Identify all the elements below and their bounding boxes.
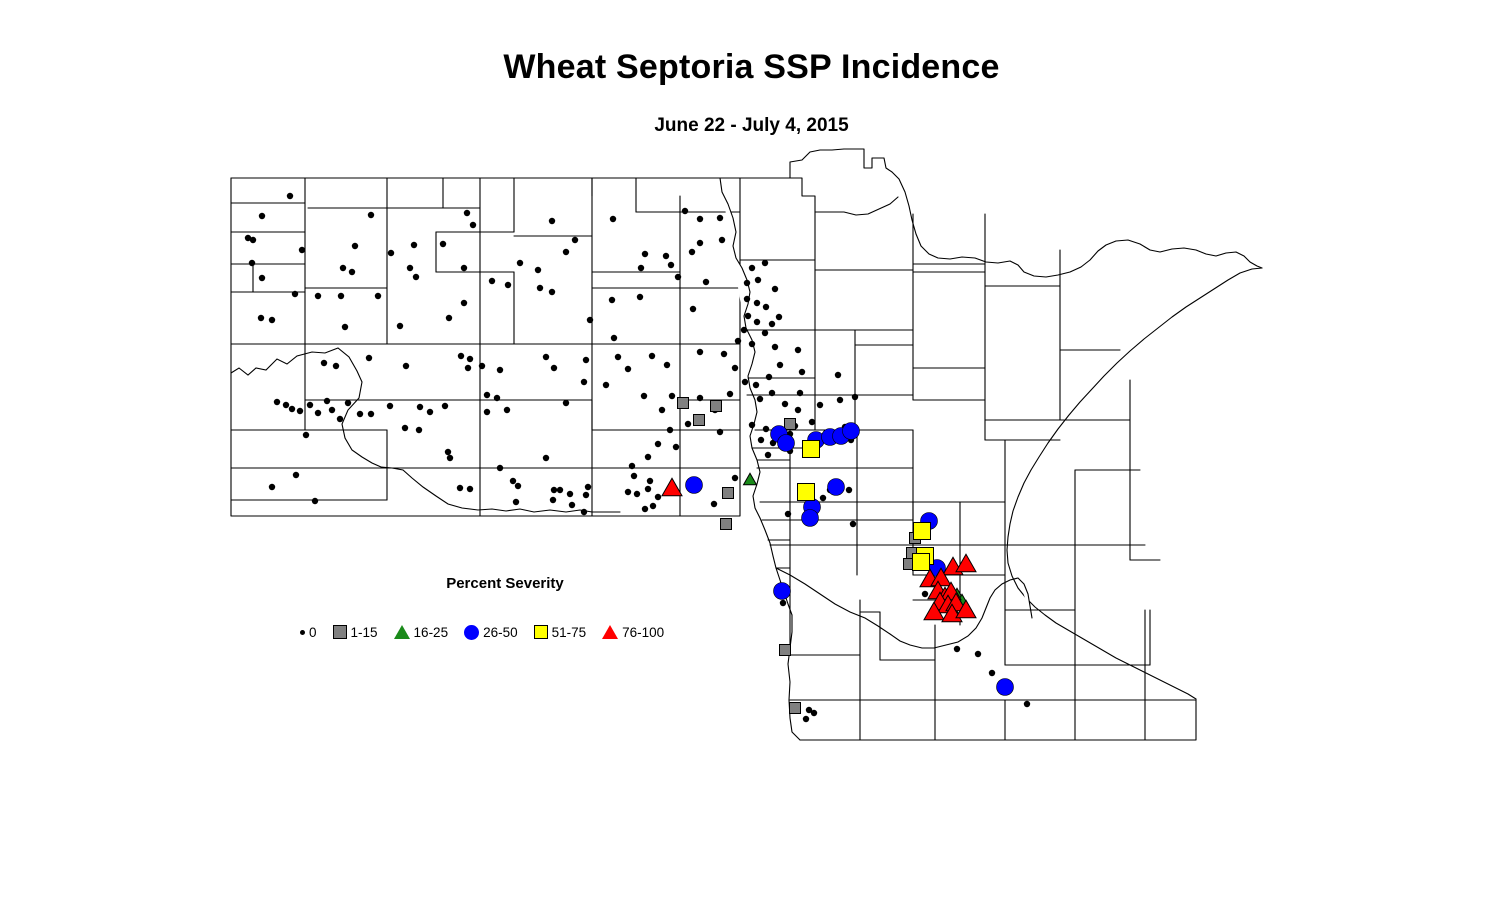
map-point-1-15: [721, 519, 732, 530]
map-point-0: [795, 347, 801, 353]
map-point-0: [259, 213, 265, 219]
map-point-0: [765, 452, 771, 458]
map-point-0: [673, 444, 679, 450]
map-point-0: [645, 454, 651, 460]
map-point-0: [809, 419, 815, 425]
map-point-51-75: [798, 484, 815, 501]
legend-label: 1-15: [351, 625, 378, 640]
map-point-0: [625, 489, 631, 495]
legend-square-icon: [333, 625, 347, 639]
map-canvas: [0, 0, 1503, 900]
map-point-0: [461, 300, 467, 306]
map-point-0: [484, 392, 490, 398]
map-point-0: [489, 278, 495, 284]
map-point-0: [515, 483, 521, 489]
map-point-16-25: [744, 473, 757, 484]
map-point-0: [442, 403, 448, 409]
map-point-0: [479, 363, 485, 369]
map-point-0: [549, 289, 555, 295]
map-point-0: [411, 242, 417, 248]
map-point-0: [329, 407, 335, 413]
map-point-0: [749, 422, 755, 428]
map-point-0: [585, 484, 591, 490]
map-point-0: [465, 365, 471, 371]
map-point-0: [427, 409, 433, 415]
map-point-0: [645, 486, 651, 492]
map-point-0: [504, 407, 510, 413]
map-point-0: [641, 393, 647, 399]
map-point-0: [397, 323, 403, 329]
map-page: Wheat Septoria SSP Incidence June 22 - J…: [0, 0, 1503, 900]
map-point-0: [587, 317, 593, 323]
map-point-0: [744, 296, 750, 302]
map-point-0: [703, 279, 709, 285]
legend-label: 16-25: [414, 625, 449, 640]
map-point-0: [458, 353, 464, 359]
map-point-0: [647, 478, 653, 484]
map-point-0: [464, 210, 470, 216]
map-point-0: [757, 396, 763, 402]
map-point-0: [697, 216, 703, 222]
legend-item-1-15: 1-15: [333, 625, 378, 640]
map-point-0: [799, 369, 805, 375]
map-point-51-75: [913, 554, 930, 571]
map-point-0: [557, 487, 563, 493]
map-point-0: [835, 372, 841, 378]
map-point-26-50: [774, 583, 791, 600]
map-point-0: [795, 407, 801, 413]
map-point-0: [340, 265, 346, 271]
map-point-0: [719, 237, 725, 243]
legend-triangle-icon: [394, 625, 410, 639]
map-point-0: [551, 487, 557, 493]
map-point-0: [274, 399, 280, 405]
map-point-0: [741, 327, 747, 333]
map-point-0: [513, 499, 519, 505]
map-point-1-15: [723, 488, 734, 499]
map-point-0: [742, 379, 748, 385]
map-point-0: [697, 240, 703, 246]
map-point-0: [669, 393, 675, 399]
map-point-0: [550, 497, 556, 503]
map-point-0: [772, 344, 778, 350]
legend-label: 76-100: [622, 625, 664, 640]
map-point-0: [611, 335, 617, 341]
map-point-0: [690, 306, 696, 312]
map-point-0: [413, 274, 419, 280]
map-point-0: [324, 398, 330, 404]
map-point-0: [717, 215, 723, 221]
map-point-0: [638, 265, 644, 271]
map-point-0: [368, 212, 374, 218]
map-point-0: [461, 265, 467, 271]
map-point-0: [769, 390, 775, 396]
map-point-1-15: [785, 419, 796, 430]
map-point-0: [245, 235, 251, 241]
map-point-0: [497, 465, 503, 471]
map-point-0: [303, 432, 309, 438]
map-point-0: [755, 277, 761, 283]
map-point-0: [667, 427, 673, 433]
map-point-0: [447, 455, 453, 461]
map-point-0: [287, 193, 293, 199]
map-point-0: [754, 319, 760, 325]
map-point-0: [749, 265, 755, 271]
map-point-51-75: [914, 523, 931, 540]
map-point-0: [780, 600, 786, 606]
map-point-0: [745, 313, 751, 319]
map-point-0: [299, 247, 305, 253]
map-point-0: [583, 492, 589, 498]
map-point-0: [766, 374, 772, 380]
map-point-26-50: [997, 679, 1014, 696]
map-point-0: [732, 365, 738, 371]
map-point-0: [387, 403, 393, 409]
map-point-0: [727, 391, 733, 397]
map-point-0: [258, 315, 264, 321]
map-point-26-50: [828, 479, 845, 496]
map-svg: [0, 0, 1503, 900]
map-point-0: [289, 406, 295, 412]
map-point-0: [735, 338, 741, 344]
map-point-0: [642, 251, 648, 257]
map-point-0: [440, 241, 446, 247]
map-point-0: [659, 407, 665, 413]
map-point-0: [655, 494, 661, 500]
map-point-0: [583, 357, 589, 363]
map-point-0: [846, 487, 852, 493]
map-point-0: [315, 293, 321, 299]
map-point-0: [664, 362, 670, 368]
legend-item-16-25: 16-25: [394, 625, 449, 640]
map-point-26-50: [802, 510, 819, 527]
map-point-0: [402, 425, 408, 431]
map-point-0: [563, 400, 569, 406]
map-point-0: [689, 249, 695, 255]
map-point-0: [333, 363, 339, 369]
map-point-0: [663, 253, 669, 259]
map-point-0: [763, 426, 769, 432]
map-point-0: [375, 293, 381, 299]
map-point-0: [457, 485, 463, 491]
map-point-0: [345, 400, 351, 406]
map-point-0: [754, 300, 760, 306]
map-point-0: [484, 409, 490, 415]
map-point-0: [609, 297, 615, 303]
map-point-0: [417, 404, 423, 410]
map-point-0: [537, 285, 543, 291]
legend-item-0: 0: [300, 625, 317, 640]
map-point-1-15: [678, 398, 689, 409]
map-point-0: [543, 354, 549, 360]
map-point-0: [581, 379, 587, 385]
map-point-0: [650, 503, 656, 509]
legend-label: 0: [309, 625, 317, 640]
map-point-0: [749, 341, 755, 347]
map-point-0: [445, 449, 451, 455]
map-point-1-15: [711, 401, 722, 412]
map-point-26-50: [686, 477, 703, 494]
map-point-0: [803, 716, 809, 722]
map-point-0: [682, 208, 688, 214]
legend-triangle-icon: [602, 625, 618, 639]
map-point-0: [403, 363, 409, 369]
map-point-0: [494, 395, 500, 401]
map-point-0: [581, 509, 587, 515]
legend-title: Percent Severity: [290, 575, 720, 592]
map-point-0: [470, 222, 476, 228]
map-point-0: [668, 262, 674, 268]
map-point-0: [655, 441, 661, 447]
map-point-0: [352, 243, 358, 249]
map-point-0: [269, 484, 275, 490]
map-point-0: [407, 265, 413, 271]
map-point-0: [615, 354, 621, 360]
map-point-0: [762, 330, 768, 336]
map-point-0: [797, 390, 803, 396]
legend-label: 51-75: [552, 625, 587, 640]
legend-items: 01-1516-2526-5051-7576-100: [300, 617, 680, 647]
map-point-0: [249, 260, 255, 266]
map-point-0: [349, 269, 355, 275]
map-point-0: [368, 411, 374, 417]
map-point-0: [649, 353, 655, 359]
map-point-0: [517, 260, 523, 266]
map-point-76-100: [956, 554, 976, 572]
map-point-0: [782, 401, 788, 407]
map-point-0: [758, 437, 764, 443]
map-point-0: [637, 294, 643, 300]
map-point-0: [321, 360, 327, 366]
map-point-0: [777, 362, 783, 368]
map-point-0: [721, 351, 727, 357]
map-point-0: [297, 408, 303, 414]
map-point-0: [610, 216, 616, 222]
map-point-0: [762, 260, 768, 266]
map-point-0: [549, 218, 555, 224]
map-point-0: [811, 710, 817, 716]
map-point-0: [416, 427, 422, 433]
map-point-0: [446, 315, 452, 321]
legend-circle-icon: [464, 625, 479, 640]
map-point-0: [634, 491, 640, 497]
map-point-1-15: [790, 703, 801, 714]
map-point-0: [337, 416, 343, 422]
map-point-0: [975, 651, 981, 657]
map-point-0: [505, 282, 511, 288]
map-point-0: [269, 317, 275, 323]
map-point-0: [820, 495, 826, 501]
map-point-0: [697, 349, 703, 355]
map-point-0: [388, 250, 394, 256]
map-point-1-15: [780, 645, 791, 656]
map-point-0: [366, 355, 372, 361]
map-point-51-75: [803, 441, 820, 458]
map-point-0: [817, 402, 823, 408]
legend-square-icon: [534, 625, 548, 639]
map-point-0: [467, 356, 473, 362]
map-point-0: [535, 267, 541, 273]
legend: Percent Severity 01-1516-2526-5051-7576-…: [290, 575, 720, 655]
legend-dot-icon: [300, 630, 305, 635]
map-point-0: [510, 478, 516, 484]
legend-item-51-75: 51-75: [534, 625, 587, 640]
map-point-0: [342, 324, 348, 330]
map-point-0: [1024, 701, 1030, 707]
map-point-0: [744, 280, 750, 286]
legend-label: 26-50: [483, 625, 518, 640]
map-point-0: [283, 402, 289, 408]
map-point-1-15: [694, 415, 705, 426]
map-point-0: [769, 321, 775, 327]
map-point-0: [753, 382, 759, 388]
map-point-0: [763, 304, 769, 310]
map-point-0: [776, 314, 782, 320]
map-point-0: [711, 501, 717, 507]
map-point-0: [629, 463, 635, 469]
map-point-0: [293, 472, 299, 478]
map-point-0: [467, 486, 473, 492]
map-point-0: [551, 365, 557, 371]
map-point-0: [837, 397, 843, 403]
map-point-0: [922, 591, 928, 597]
map-point-0: [563, 249, 569, 255]
map-point-0: [954, 646, 960, 652]
map-point-0: [292, 291, 298, 297]
map-point-0: [315, 410, 321, 416]
map-point-0: [357, 411, 363, 417]
map-point-0: [785, 511, 791, 517]
map-point-0: [642, 506, 648, 512]
map-point-0: [259, 275, 265, 281]
map-point-0: [569, 502, 575, 508]
map-point-0: [603, 382, 609, 388]
map-point-0: [732, 475, 738, 481]
map-point-0: [307, 402, 313, 408]
map-point-0: [717, 429, 723, 435]
map-point-0: [852, 394, 858, 400]
legend-item-76-100: 76-100: [602, 625, 664, 640]
map-point-0: [338, 293, 344, 299]
legend-item-26-50: 26-50: [464, 625, 518, 640]
map-point-0: [989, 670, 995, 676]
map-point-0: [543, 455, 549, 461]
map-point-0: [772, 286, 778, 292]
map-point-0: [697, 395, 703, 401]
map-point-0: [497, 367, 503, 373]
map-point-26-50: [778, 435, 795, 452]
map-point-0: [850, 521, 856, 527]
map-point-0: [312, 498, 318, 504]
map-point-0: [631, 473, 637, 479]
map-point-26-50: [843, 423, 860, 440]
map-point-0: [572, 237, 578, 243]
map-point-0: [685, 421, 691, 427]
map-point-0: [675, 274, 681, 280]
map-point-0: [567, 491, 573, 497]
map-point-0: [625, 366, 631, 372]
